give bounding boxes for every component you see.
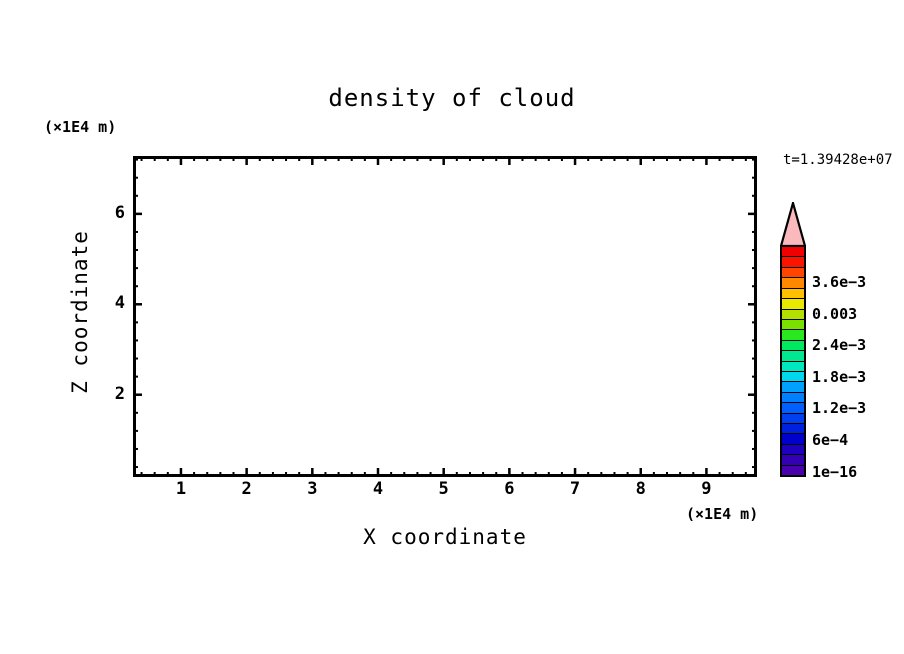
- x-tick-label: 7: [555, 479, 595, 499]
- x-axis-title: X coordinate: [133, 525, 757, 549]
- colorbar-band: [782, 455, 804, 465]
- colorbar-band: [782, 278, 804, 288]
- x-tick-label: 2: [227, 479, 267, 499]
- colorbar-band: [782, 330, 804, 340]
- colorbar-arrow-cap-icon: [780, 202, 806, 247]
- colorbar-tick-label: 1e−16: [812, 463, 857, 481]
- x-tick-label: 6: [489, 479, 529, 499]
- colorbar-band: [782, 445, 804, 455]
- colorbar-band: [782, 341, 804, 351]
- colorbar-band: [782, 466, 804, 475]
- x-tick-label: 9: [686, 479, 726, 499]
- colorbar-band: [782, 362, 804, 372]
- colorbar-tick-label: 6e−4: [812, 431, 848, 449]
- x-tick-label: 5: [424, 479, 464, 499]
- x-tick-label: 1: [161, 479, 201, 499]
- colorbar-tick-label: 1.8e−3: [812, 368, 866, 386]
- x-tick-label: 3: [292, 479, 332, 499]
- figure-canvas: density of cloud (×1E4 m) t=1.39428e+07 …: [0, 0, 904, 654]
- colorbar-band: [782, 424, 804, 434]
- colorbar-band: [782, 247, 804, 257]
- plot-frame: [133, 156, 757, 477]
- colorbar-band: [782, 414, 804, 424]
- colorbar-tick-label: 0.003: [812, 305, 857, 323]
- simulation-timestamp: t=1.39428e+07: [783, 152, 893, 168]
- colorbar-band: [782, 403, 804, 413]
- x-tick-label: 4: [358, 479, 398, 499]
- colorbar[interactable]: [780, 245, 806, 477]
- colorbar-band: [782, 289, 804, 299]
- y-axis-unit-label: (×1E4 m): [44, 118, 116, 136]
- colorbar-band: [782, 257, 804, 267]
- colorbar-band: [782, 310, 804, 320]
- colorbar-tick-label: 3.6e−3: [812, 273, 866, 291]
- colorbar-band: [782, 268, 804, 278]
- colorbar-band: [782, 393, 804, 403]
- x-axis-unit-label: (×1E4 m): [686, 505, 758, 523]
- colorbar-band: [782, 382, 804, 392]
- page-title: density of cloud: [0, 84, 904, 112]
- y-axis-title: Z coordinate: [68, 217, 92, 407]
- colorbar-tick-label: 1.2e−3: [812, 399, 866, 417]
- colorbar-band: [782, 351, 804, 361]
- colorbar-band: [782, 434, 804, 444]
- colorbar-tick-label: 2.4e−3: [812, 336, 866, 354]
- x-tick-label: 8: [621, 479, 661, 499]
- colorbar-band: [782, 299, 804, 309]
- colorbar-band: [782, 372, 804, 382]
- colorbar-band: [782, 320, 804, 330]
